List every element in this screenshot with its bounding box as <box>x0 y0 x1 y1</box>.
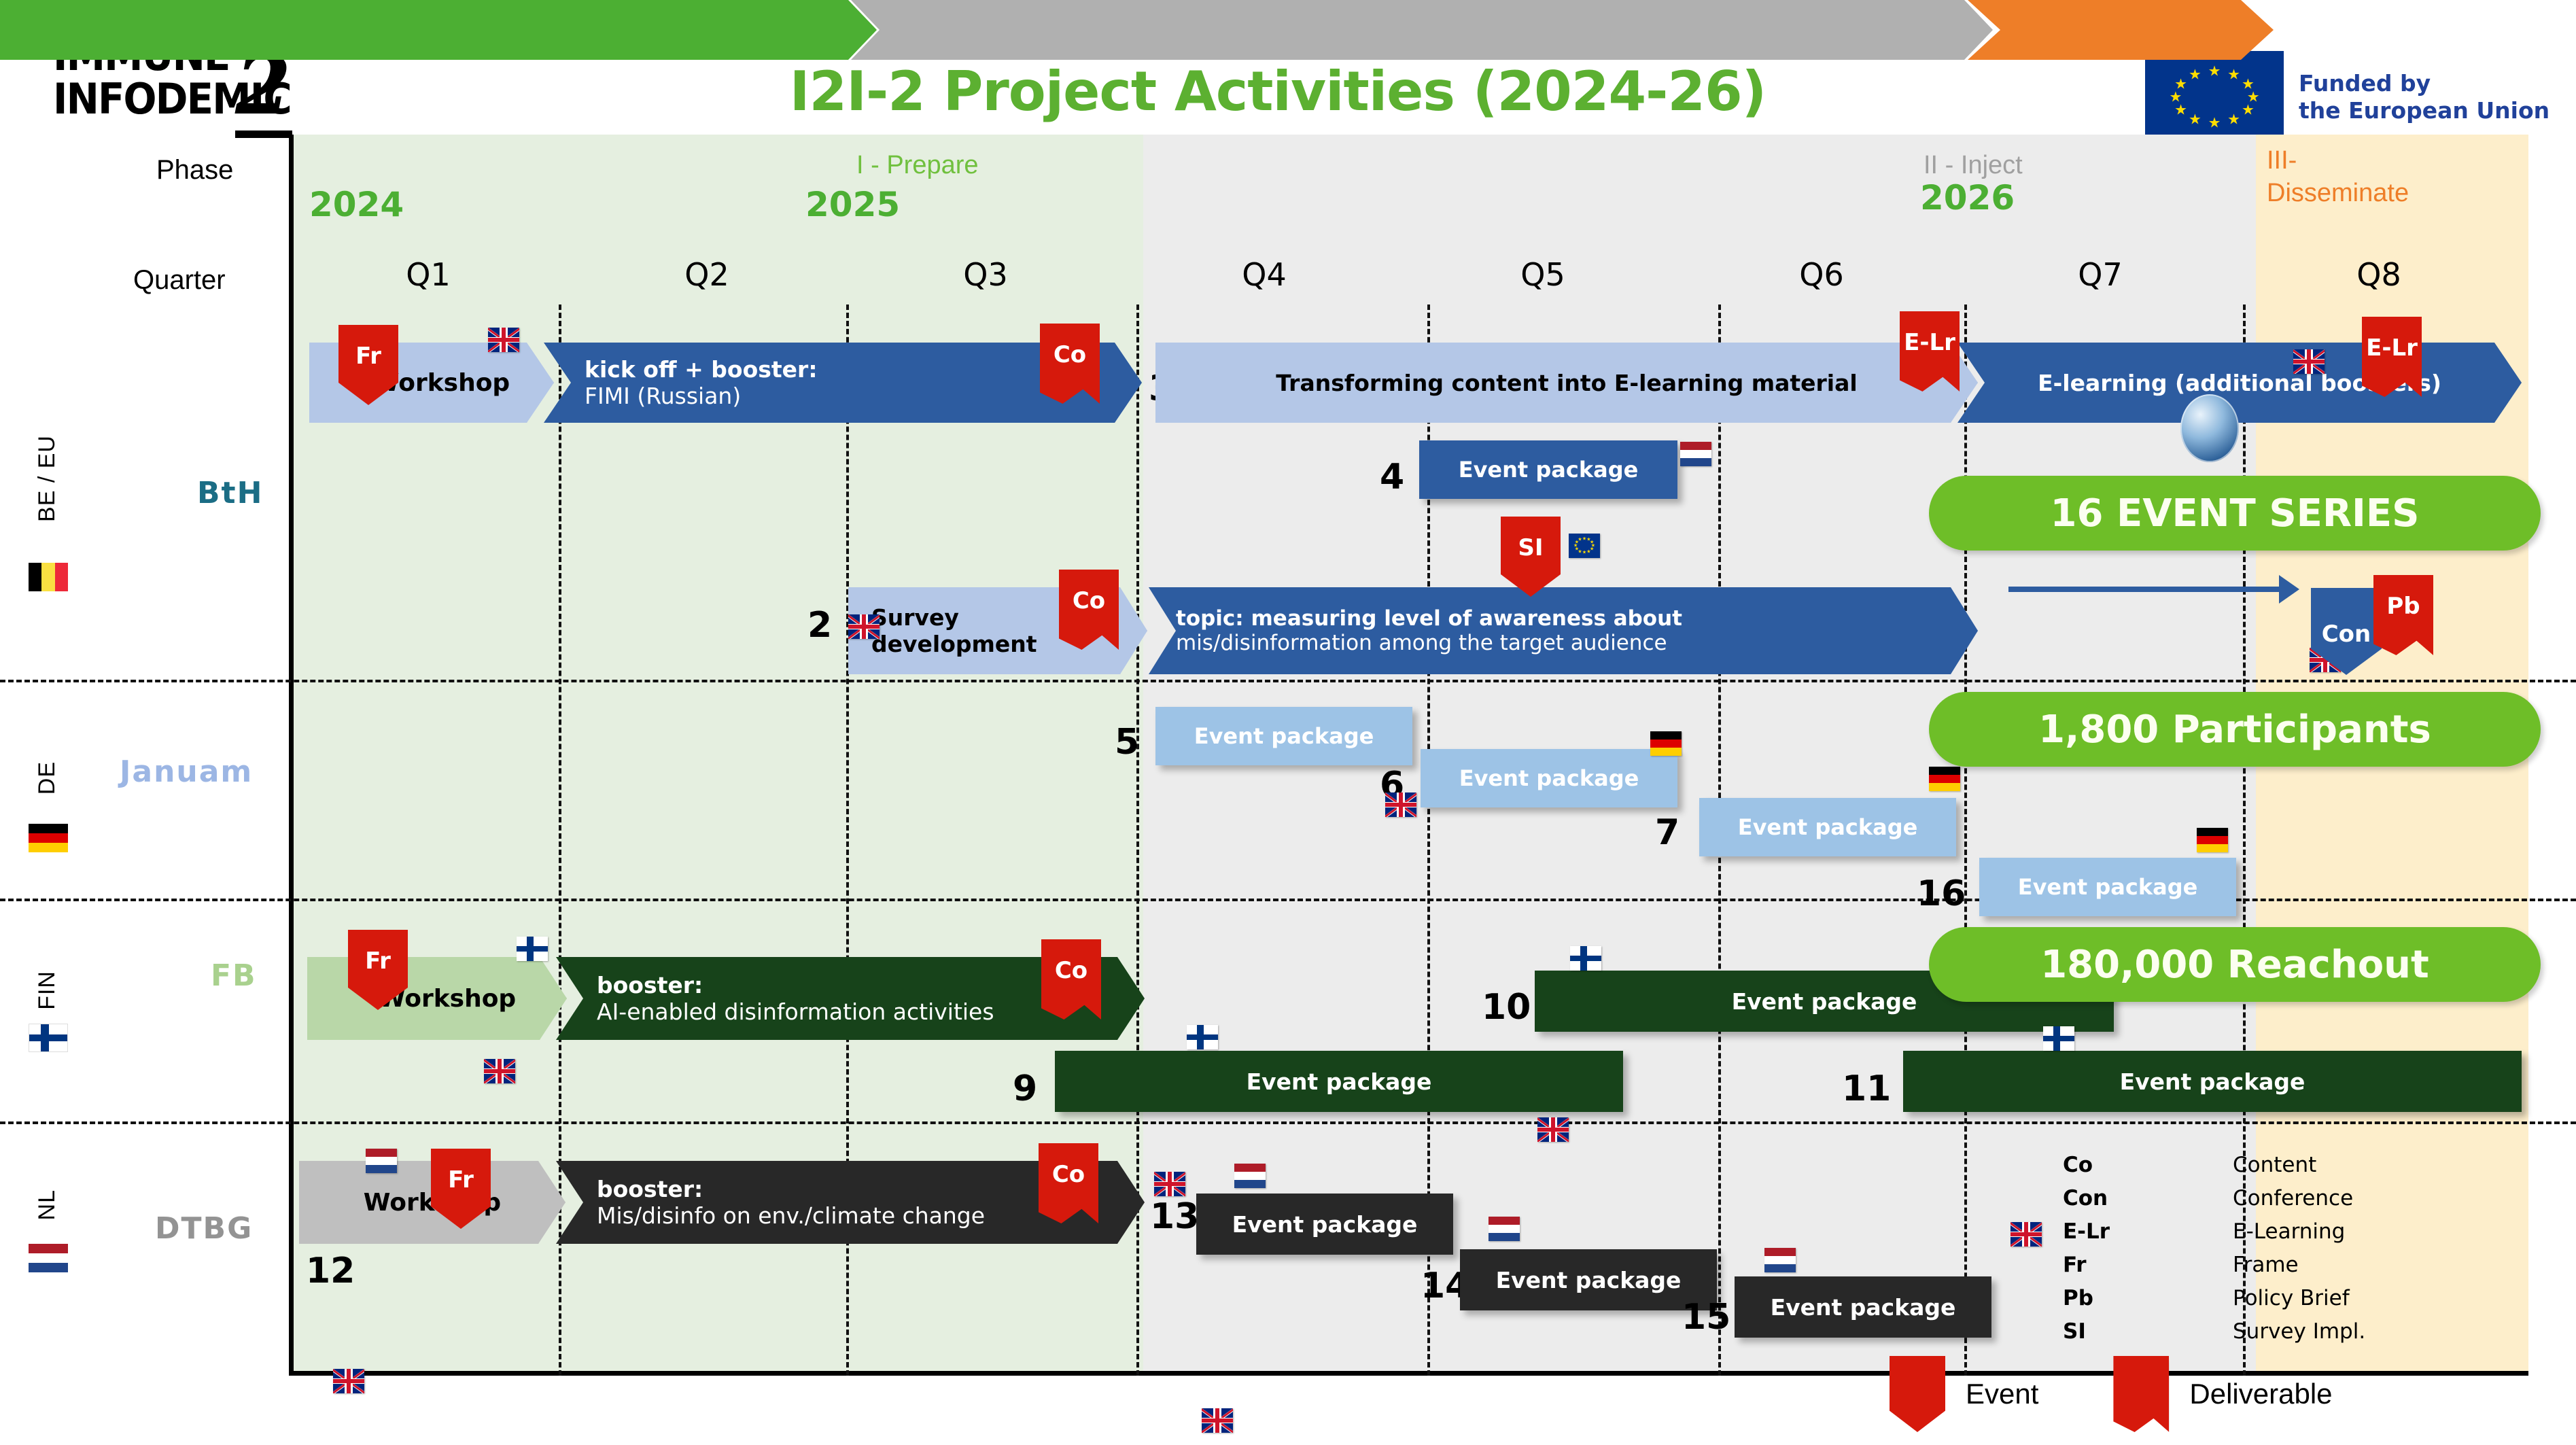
task-bar-16-event-package[interactable]: Event package <box>1979 858 2236 916</box>
abbr-value: E-Learning <box>2233 1215 2345 1249</box>
marker-co-deliverable-2[interactable]: Co <box>1059 570 1119 650</box>
column-divider-q1-q2 <box>559 304 561 1376</box>
abbr-value: Content <box>2233 1149 2316 1182</box>
eu-funded-line2: the European Union <box>2299 97 2549 124</box>
quarter-label-q5: Q5 <box>1404 245 1682 304</box>
abbr-value: Frame <box>2233 1249 2299 1282</box>
abbr-key: E-Lr <box>2063 1215 2233 1249</box>
phase3-line2: Disseminate <box>2267 177 2409 209</box>
task-bar-14-event-package[interactable]: Event package <box>1460 1249 1717 1310</box>
globe-icon <box>2180 394 2239 462</box>
partner-name-januam: Januam <box>120 754 253 789</box>
task-bar-8-workshop[interactable]: Workshop <box>307 957 567 1040</box>
task-bar-14-label: Event package <box>1460 1267 1717 1293</box>
phase-label-prepare: I - Prepare <box>856 151 979 180</box>
legend-event: Event <box>1890 1356 2038 1432</box>
germany-flag-icon-3 <box>2197 828 2228 852</box>
netherlands-flag-icon-3 <box>1234 1164 1266 1188</box>
eu-funding-badge: ★★★★★★★★★★★★ Funded by the European Unio… <box>2145 51 2549 143</box>
phase3-line1: III- <box>2267 144 2409 177</box>
task-bar-4-label: Event package <box>1419 457 1677 483</box>
task-index-10: 10 <box>1482 987 1531 1028</box>
germany-flag-icon <box>29 824 68 852</box>
legend-deliverable: Deliverable <box>2113 1356 2332 1432</box>
marker-pb-deliverable[interactable]: Pb <box>2373 575 2433 655</box>
task-bar-2b-line2: mis/disinformation among the target audi… <box>1176 631 1964 655</box>
task-bar-6-event-package[interactable]: Event package <box>1421 749 1677 807</box>
phase-axis-label: Phase <box>156 155 233 186</box>
callout-reachout-text: 180,000 Reachout <box>2040 943 2429 987</box>
task-index-13: 13 <box>1150 1196 1199 1237</box>
task-index-7: 7 <box>1655 812 1679 853</box>
uk-flag-icon-7 <box>1154 1172 1185 1196</box>
task-bar-4-event-package[interactable]: Event package <box>1419 440 1677 499</box>
uk-flag-icon-2 <box>2293 349 2325 374</box>
quarter-label-q3: Q3 <box>846 245 1125 304</box>
task-index-2: 2 <box>807 605 832 646</box>
task-bar-13-event-package[interactable]: Event package <box>1196 1194 1453 1255</box>
marker-co-deliverable-3[interactable]: Co <box>1041 939 1101 1020</box>
abbr-row: PbPolicy Brief <box>2063 1282 2365 1315</box>
germany-flag-icon-2 <box>1929 767 1960 791</box>
logo-line-2: INFODEMIC <box>53 77 262 121</box>
connector-arrow <box>2008 587 2280 592</box>
uk-flag-icon-3 <box>848 614 880 639</box>
quarter-label-q4: Q4 <box>1125 245 1404 304</box>
task-bar-2b-topic[interactable]: topic: measuring level of awareness abou… <box>1149 587 1978 674</box>
callout-participants-text: 1,800 Participants <box>2038 708 2431 752</box>
task-bar-3-transform[interactable]: Transforming content into E-learning mat… <box>1155 343 1978 423</box>
finland-flag-icon-4 <box>2043 1026 2074 1051</box>
country-tag-fin: FIN <box>34 971 60 1010</box>
task-index-16: 16 <box>1917 873 1966 914</box>
infographic-canvas: IMMUNE INFODEMIC 2 I2I-2 Project Activit… <box>0 0 2576 1445</box>
logo-underline <box>235 130 292 138</box>
task-index-5: 5 <box>1115 722 1139 763</box>
phase-label-inject: II - Inject <box>1924 151 2023 180</box>
task-bar-7-label: Event package <box>1699 814 1956 840</box>
task-bar-5-event-package[interactable]: Event package <box>1155 707 1412 765</box>
uk-flag-icon-1 <box>488 328 519 352</box>
task-bar-7-event-package[interactable]: Event package <box>1699 798 1956 856</box>
finland-flag-icon-1 <box>517 937 548 961</box>
abbr-key: Co <box>2063 1149 2233 1182</box>
finland-flag-icon-3 <box>1570 946 1601 971</box>
marker-co-deliverable-4[interactable]: Co <box>1039 1143 1098 1223</box>
eu-flag-icon: ★★★★★★★★★★★★ <box>2145 51 2284 143</box>
year-label-2026: 2026 <box>1920 178 2015 217</box>
quarter-label-q8: Q8 <box>2240 245 2518 304</box>
quarter-segment-disseminate <box>1968 0 2274 60</box>
abbr-row: E-LrE-Learning <box>2063 1215 2365 1249</box>
task-bar-9-label: Event package <box>1055 1068 1623 1095</box>
logo-numeral-2: 2 <box>235 52 291 120</box>
legend-deliverable-label: Deliverable <box>2189 1378 2332 1410</box>
quarter-axis-label: Quarter <box>133 265 226 296</box>
task-index-11: 11 <box>1842 1068 1891 1109</box>
netherlands-flag-icon <box>29 1244 68 1272</box>
task-index-15: 15 <box>1682 1297 1730 1338</box>
task-bar-13-label: Event package <box>1196 1211 1453 1238</box>
marker-elr-deliverable-1[interactable]: E-Lr <box>1900 311 1960 391</box>
quarter-segment-prepare <box>0 0 877 60</box>
abbr-value: Survey Impl. <box>2233 1315 2365 1348</box>
abbr-row: ConConference <box>2063 1182 2365 1215</box>
task-bar-15-label: Event package <box>1735 1294 1991 1321</box>
task-bar-5-label: Event package <box>1155 723 1412 749</box>
germany-flag-icon-1 <box>1650 731 1682 756</box>
marker-elr-deliverable-2[interactable]: E-Lr <box>2362 317 2422 397</box>
partner-name-bth: BtH <box>197 476 263 510</box>
legend-event-label: Event <box>1966 1378 2038 1410</box>
column-divider-q6-q7 <box>1964 304 1967 1376</box>
country-tag-be: BE / EU <box>34 435 60 522</box>
uk-flag-icon-8 <box>1537 1117 1569 1142</box>
partner-name-fb: FB <box>211 958 257 993</box>
shape-legend: Event Deliverable <box>1890 1356 2333 1432</box>
task-index-9: 9 <box>1013 1068 1037 1109</box>
year-label-2025: 2025 <box>805 185 900 224</box>
task-bar-8-label: Workshop <box>307 985 567 1013</box>
uk-flag-icon-9 <box>2011 1222 2042 1247</box>
task-bar-2b-line1: topic: measuring level of awareness abou… <box>1176 606 1964 631</box>
eu-funded-line1: Funded by <box>2299 70 2549 97</box>
netherlands-flag-icon-5 <box>1764 1248 1796 1272</box>
year-label-2024: 2024 <box>309 185 404 224</box>
eu-flag-icon-small-1: ★★★★★★★★★★★★ <box>1569 534 1600 558</box>
task-bar-11-event-package[interactable]: Event package <box>1903 1051 2522 1112</box>
uk-flag-icon-10 <box>333 1369 364 1393</box>
quarter-segment-inject <box>851 0 1993 60</box>
abbr-key: Fr <box>2063 1249 2233 1282</box>
task-bar-3-label: Transforming content into E-learning mat… <box>1155 370 1978 396</box>
callout-participants: 1,800 Participants <box>1929 692 2541 767</box>
event-shape-icon <box>1890 1356 1945 1432</box>
row-divider-fin-nl <box>0 1121 2576 1124</box>
task-bar-16-label: Event package <box>1979 874 2236 900</box>
task-bar-6-label: Event package <box>1421 765 1677 791</box>
netherlands-flag-icon-1 <box>1680 442 1711 466</box>
quarter-label-q1: Q1 <box>289 245 568 304</box>
deliverable-shape-icon <box>2113 1356 2169 1432</box>
marker-co-deliverable-1[interactable]: Co <box>1040 324 1100 404</box>
eu-funding-text: Funded by the European Union <box>2299 70 2549 124</box>
abbr-row: CoContent <box>2063 1149 2365 1182</box>
finland-flag-icon-2 <box>1187 1025 1218 1049</box>
callout-reachout: 180,000 Reachout <box>1929 927 2541 1002</box>
netherlands-flag-icon-2 <box>366 1149 397 1173</box>
quarter-label-q7: Q7 <box>1961 245 2240 304</box>
abbr-value: Conference <box>2233 1182 2353 1215</box>
abbr-value: Policy Brief <box>2233 1282 2350 1315</box>
country-tag-nl: NL <box>34 1189 60 1220</box>
country-tag-de: DE <box>34 761 60 795</box>
uk-flag-icon-6 <box>484 1059 515 1083</box>
uk-flag-icon-5 <box>1385 793 1416 817</box>
phase-label-disseminate: III- Disseminate <box>2267 144 2409 209</box>
task-index-4: 4 <box>1380 457 1404 498</box>
abbr-key: Pb <box>2063 1282 2233 1315</box>
task-bar-15-event-package[interactable]: Event package <box>1735 1276 1991 1338</box>
abbr-row: FrFrame <box>2063 1249 2365 1282</box>
abbr-key: Con <box>2063 1182 2233 1215</box>
abbreviation-legend: CoContent ConConference E-LrE-Learning F… <box>2063 1149 2365 1348</box>
task-index-12: 12 <box>306 1251 355 1291</box>
quarter-label-q2: Q2 <box>568 245 846 304</box>
partner-name-dtbg: DTBG <box>155 1211 253 1246</box>
task-bar-3b-label: E-learning (additional boosters) <box>1957 370 2522 396</box>
task-bar-9-event-package[interactable]: Event package <box>1055 1051 1623 1112</box>
page-title: I2I-2 Project Activities (2024-26) <box>612 60 1944 123</box>
quarter-label-q6: Q6 <box>1682 245 1961 304</box>
finland-flag-field <box>29 1024 68 1052</box>
abbr-key: SI <box>2063 1315 2233 1348</box>
callout-event-series: 16 EVENT SERIES <box>1929 476 2541 551</box>
netherlands-flag-icon-4 <box>1489 1217 1520 1241</box>
row-divider-be-de <box>0 680 2576 682</box>
task-bar-11-label: Event package <box>1903 1068 2522 1095</box>
uk-flag-icon-11 <box>1202 1408 1233 1433</box>
task-bar-3b-elearning[interactable]: E-learning (additional boosters) <box>1957 343 2522 423</box>
belgium-flag-icon <box>29 563 68 591</box>
callout-event-series-text: 16 EVENT SERIES <box>2051 491 2420 536</box>
column-divider-q3-q4 <box>1136 304 1139 1376</box>
abbr-row: SISurvey Impl. <box>2063 1315 2365 1348</box>
